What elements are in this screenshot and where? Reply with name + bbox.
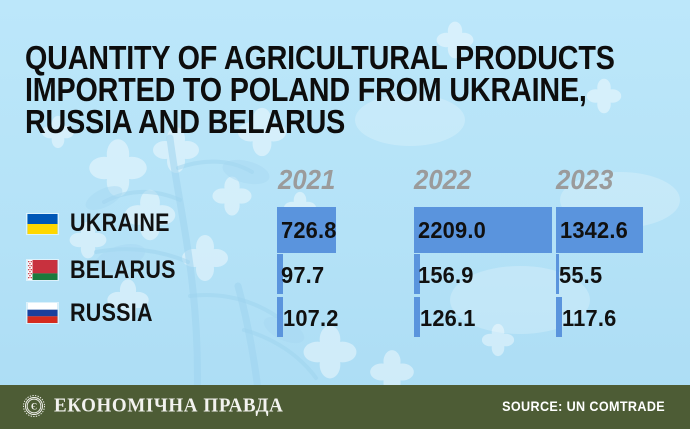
year-label-2021: 2021: [278, 164, 335, 196]
year-axis-labels: 2021 2022 2023: [0, 160, 690, 200]
value-russia-2022: 126.1: [420, 307, 476, 330]
title-line-1: QUANTITY OF AGRICULTURAL PRODUCTS: [25, 42, 564, 74]
footer-bar: Є ЕКОНОМІЧНА ПРАВДА SOURCE: UN COMTRADE: [0, 385, 690, 429]
source-credit: SOURCE: UN COMTRADE: [502, 399, 665, 414]
country-label-belarus: BELARUS: [70, 258, 176, 283]
value-belarus-2023: 55.5: [559, 264, 602, 287]
year-label-2023: 2023: [556, 164, 613, 196]
title-line-3: RUSSIA AND BELARUS: [25, 106, 564, 138]
belarus-flag-icon: [26, 259, 59, 281]
infographic-root: QUANTITY OF AGRICULTURAL PRODUCTS IMPORT…: [0, 0, 690, 429]
value-belarus-2021: 97.7: [281, 264, 324, 287]
value-ukraine-2023: 1342.6: [560, 219, 628, 242]
year-label-2022: 2022: [414, 164, 471, 196]
country-label-russia: RUSSIA: [70, 301, 153, 326]
economichna-pravda-seal-icon: Є: [22, 394, 46, 418]
brand-name: ЕКОНОМІЧНА ПРАВДА: [54, 396, 283, 417]
value-ukraine-2022: 2209.0: [418, 219, 486, 242]
country-label-ukraine: UKRAINE: [70, 211, 170, 236]
brand-logo[interactable]: Є ЕКОНОМІЧНА ПРАВДА: [22, 394, 283, 418]
value-russia-2021: 107.2: [283, 307, 339, 330]
title-line-2: IMPORTED TO POLAND FROM UKRAINE,: [25, 74, 564, 106]
chart-row-ukraine: UKRAINE 726.8 2209.0 1342.6: [0, 204, 690, 253]
value-russia-2023: 117.6: [562, 307, 616, 330]
svg-text:Є: Є: [31, 402, 37, 412]
chart-row-belarus: BELARUS 97.7 156.9 55.5: [0, 253, 690, 295]
ukraine-flag-icon: [26, 213, 59, 235]
page-title: QUANTITY OF AGRICULTURAL PRODUCTS IMPORT…: [25, 42, 564, 138]
value-ukraine-2021: 726.8: [281, 219, 337, 242]
chart-row-russia: RUSSIA 107.2 126.1 117.6: [0, 295, 690, 337]
value-belarus-2022: 156.9: [418, 264, 474, 287]
bar-chart: 2021 2022 2023 UKRAINE 726.8 2209.0: [0, 160, 690, 350]
russia-flag-icon: [26, 302, 59, 324]
chart-rows: UKRAINE 726.8 2209.0 1342.6: [0, 204, 690, 337]
